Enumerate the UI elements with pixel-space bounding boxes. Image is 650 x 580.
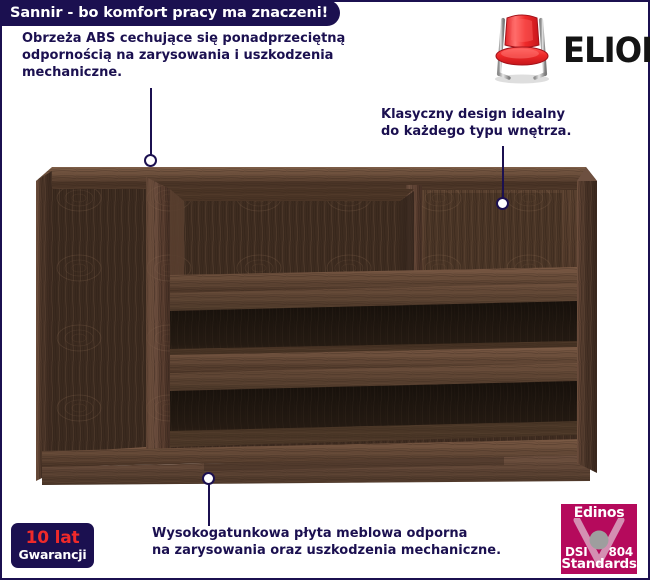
- brand-logo: ELIOR: [487, 12, 639, 86]
- callout-top-left-leader: [150, 88, 152, 160]
- red-chair-icon: [487, 12, 557, 86]
- banner-title: Sannir - bo komfort pracy ma znaczeni!: [10, 5, 328, 21]
- callout-top-left-text: Obrzeża ABS cechujące się ponadprzeciętn…: [22, 30, 392, 81]
- warranty-years: 10 lat: [26, 530, 80, 547]
- warranty-label: Gwarancji: [19, 549, 87, 562]
- callout-top-right-leader: [502, 146, 504, 203]
- certificate-badge: Edinos DSI 804 Standards: [561, 504, 637, 574]
- certificate-title: Edinos: [561, 505, 637, 521]
- frame-border-left: [0, 0, 2, 580]
- callout-bottom-leader: [208, 484, 210, 526]
- certificate-label: Standards: [561, 556, 637, 572]
- product-image: [34, 163, 599, 487]
- callout-bottom-text: Wysokogatunkowa płyta meblowa odporna na…: [152, 525, 552, 559]
- warranty-badge: 10 lat Gwarancji: [11, 523, 94, 568]
- callout-top-right-text: Klasyczny design idealny do każdego typu…: [381, 106, 633, 140]
- callout-bottom-marker[interactable]: [202, 472, 215, 485]
- callout-top-right-marker[interactable]: [496, 197, 509, 210]
- brand-name: ELIOR: [563, 31, 650, 71]
- callout-top-left-marker[interactable]: [144, 154, 157, 167]
- header-banner: Sannir - bo komfort pracy ma znaczeni!: [0, 0, 340, 26]
- infographic-page: Sannir - bo komfort pracy ma znaczeni!: [0, 0, 650, 580]
